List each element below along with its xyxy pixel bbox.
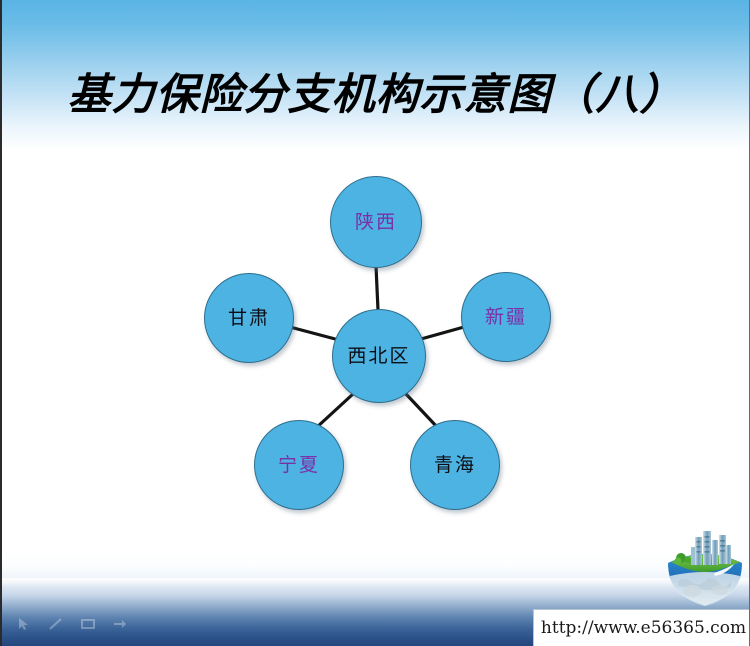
connector-center-gansu [290,327,339,340]
node-center-northwest-region[interactable]: 西北区 [332,309,426,403]
connector-center-shaanxi [376,266,378,310]
rectangle-tool-icon[interactable] [80,616,96,632]
node-label-gansu: 甘肃 [228,309,270,328]
node-label-shaanxi: 陕西 [355,213,397,232]
node-shaanxi[interactable]: 陕西 [330,176,422,268]
arrow-tool-icon[interactable] [112,616,128,632]
website-url-plate: http://www.e56365.com [533,609,750,646]
globe-city-logo [662,527,748,609]
select-arrow-icon[interactable] [16,616,32,632]
node-label-xinjiang: 新疆 [485,308,527,327]
connector-center-qinghai [406,394,438,428]
line-tool-icon[interactable] [48,616,64,632]
slide-canvas: 基力保险分支机构示意图（八） 陕西 甘肃 新疆 西北区 宁夏 青海 [0,0,750,646]
node-qinghai[interactable]: 青海 [410,420,500,510]
connector-center-ningxia [316,394,353,428]
node-label-qinghai: 青海 [434,456,476,475]
node-xinjiang[interactable]: 新疆 [461,272,551,362]
node-ningxia[interactable]: 宁夏 [254,420,344,510]
node-label-northwest-region: 西北区 [347,347,410,366]
drawing-toolbar [16,616,128,632]
website-url: http://www.e56365.com [541,618,746,638]
node-label-ningxia: 宁夏 [278,456,320,475]
node-gansu[interactable]: 甘肃 [204,273,294,363]
connector-center-xinjiang [421,327,464,339]
